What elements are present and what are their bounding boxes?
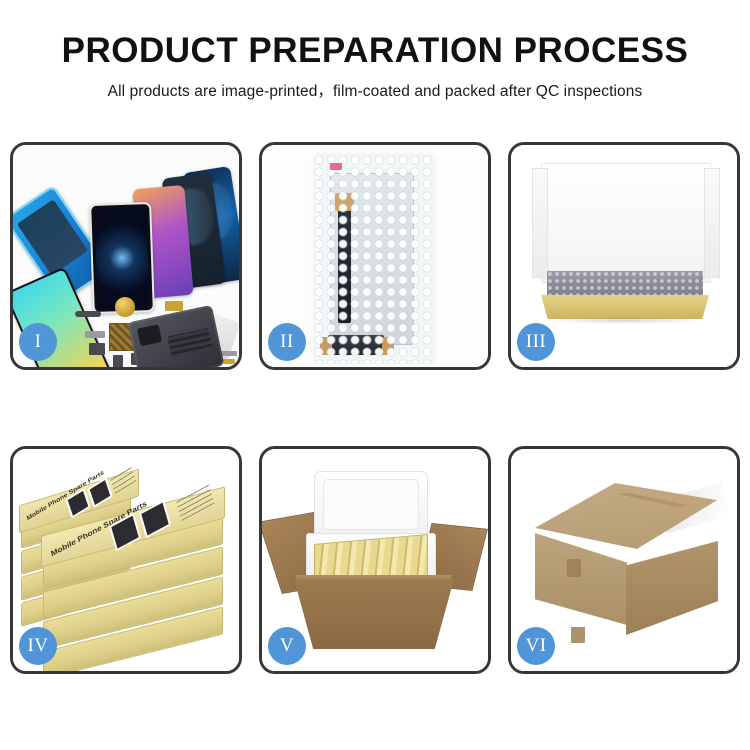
lcd-connector-icon bbox=[328, 335, 384, 355]
step-panel-5[interactable]: V bbox=[259, 446, 491, 674]
step-panel-1[interactable]: I bbox=[10, 142, 242, 370]
foam-cooler-lid-icon bbox=[314, 471, 428, 541]
step-badge-6: VI bbox=[517, 627, 555, 665]
page-subtitle: All products are image-printed，film-coat… bbox=[0, 79, 750, 101]
step-badge-1: I bbox=[19, 323, 57, 361]
step-badge-2: II bbox=[268, 323, 306, 361]
white-foam-lid-icon bbox=[541, 163, 711, 283]
step-panel-3[interactable]: III bbox=[508, 142, 740, 370]
lcd-screen-icon bbox=[330, 173, 414, 345]
step-badge-5: V bbox=[268, 627, 306, 665]
bubble-wrap-bag-icon bbox=[314, 155, 434, 363]
kraft-box-front-icon bbox=[541, 295, 709, 319]
box-shadow bbox=[545, 317, 705, 324]
step-badge-4: IV bbox=[19, 627, 57, 665]
page-title: PRODUCT PREPARATION PROCESS bbox=[0, 33, 750, 70]
carton-body-icon bbox=[294, 579, 454, 649]
step-panel-4[interactable]: Mobile Phone Spare Parts Mobile Phone Sp… bbox=[10, 446, 242, 674]
page-header: PRODUCT PREPARATION PROCESS All products… bbox=[0, 0, 750, 101]
step-panel-6[interactable]: VI bbox=[508, 446, 740, 674]
step-panel-2[interactable]: II bbox=[259, 142, 491, 370]
lcd-flex-cable-icon bbox=[338, 207, 351, 323]
steps-grid: I II III bbox=[10, 142, 740, 674]
carton-tape-upper-icon bbox=[567, 559, 581, 577]
carton-tape-lower-icon bbox=[571, 627, 585, 643]
pink-qc-tag-icon bbox=[330, 163, 342, 170]
step-badge-3: III bbox=[517, 323, 555, 361]
grey-bubble-padding-icon bbox=[547, 271, 703, 297]
